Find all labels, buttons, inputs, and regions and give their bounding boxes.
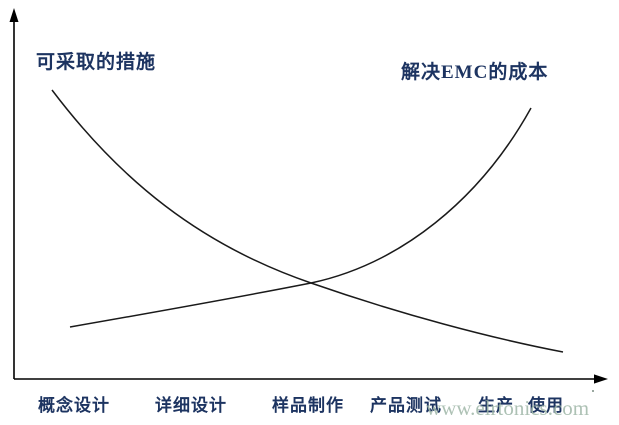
series-curve-measures: [52, 90, 563, 352]
watermark-dot: [592, 390, 594, 392]
x-tick-label-production: 生产: [478, 391, 514, 416]
x-axis-tick-labels: 概念设计 详细设计 样品制作 产品测试 生产 使用: [0, 391, 619, 421]
series-label-measures: 可采取的措施: [36, 47, 156, 74]
x-tick-label-product-testing: 产品测试: [370, 391, 442, 416]
y-axis-arrowhead-icon: [10, 8, 19, 22]
x-tick-label-prototype: 样品制作: [272, 391, 344, 416]
series-label-cost: 解决EMC的成本: [401, 57, 548, 84]
x-tick-label-concept-design: 概念设计: [38, 391, 110, 416]
series-curve-cost: [70, 108, 531, 327]
x-tick-label-usage: 使用: [528, 391, 564, 416]
x-axis-arrowhead-icon: [594, 374, 608, 383]
chart-canvas: 可采取的措施 解决EMC的成本 概念设计 详细设计 样品制作 产品测试 生产 使…: [0, 0, 619, 425]
x-tick-label-detailed-design: 详细设计: [155, 391, 227, 416]
